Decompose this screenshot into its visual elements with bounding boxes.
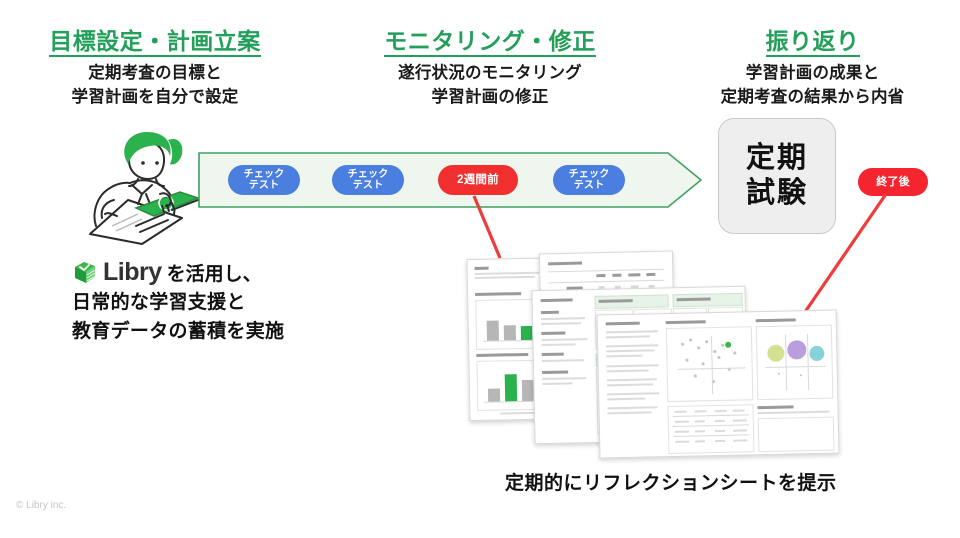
documents-caption: 定期的にリフレクションシートを提示 xyxy=(505,468,837,495)
timeline-pill-check-3[interactable]: チェック テスト xyxy=(553,165,625,195)
periodic-exam-box: 定期 試験 xyxy=(718,118,836,234)
libry-brand-name: Libry xyxy=(103,258,162,287)
column-subtitle-monitor: 遂行状況のモニタリング 学習計画の修正 xyxy=(335,62,645,110)
column-heading-reflect: 振り返り 学習計画の成果と 定期考査の結果から内省 xyxy=(665,28,960,110)
column-subtitle-reflect: 学習計画の成果と 定期考査の結果から内省 xyxy=(665,62,960,110)
timeline-pill-check-1[interactable]: チェック テスト xyxy=(228,165,300,195)
timeline-pill-label: チェック テスト xyxy=(569,169,610,191)
libry-description: 日常的な学習支援と 教育データの蓄積を実施 xyxy=(72,289,352,346)
column-title-monitor: モニタリング・修正 xyxy=(384,28,596,57)
timeline-pill-check-2[interactable]: チェック テスト xyxy=(332,165,404,195)
exam-label-line2: 試験 xyxy=(746,176,808,211)
after-exam-badge[interactable]: 終了後 xyxy=(858,168,928,196)
timeline-pill-label: チェック テスト xyxy=(244,169,285,191)
scatter-analysis-sheet[interactable] xyxy=(597,310,840,459)
libry-tail-text: を活用し、 xyxy=(167,259,262,286)
timeline-pill-label: チェック テスト xyxy=(348,169,389,191)
exam-label-line1: 定期 xyxy=(746,141,808,176)
libry-book-icon xyxy=(72,260,98,286)
libry-usage-block: Libry を活用し、 日常的な学習支援と 教育データの蓄積を実施 xyxy=(72,258,352,346)
column-title-reflect: 振り返り xyxy=(766,28,860,57)
column-subtitle-goal: 定期考査の目標と 学習計画を自分で設定 xyxy=(0,62,310,110)
timeline-pill-two-weeks-before[interactable]: 2週間前 xyxy=(438,165,518,195)
after-exam-badge-label: 終了後 xyxy=(876,176,910,188)
column-title-goal: 目標設定・計画立案 xyxy=(49,28,261,57)
timeline-pill-label: 2週間前 xyxy=(457,174,499,187)
column-heading-goal: 目標設定・計画立案 定期考査の目標と 学習計画を自分で設定 xyxy=(0,28,310,110)
copyright-footer: © Libry inc. xyxy=(16,500,66,511)
slide-canvas: 目標設定・計画立案 定期考査の目標と 学習計画を自分で設定 モニタリング・修正 … xyxy=(0,0,960,538)
column-heading-monitor: モニタリング・修正 遂行状況のモニタリング 学習計画の修正 xyxy=(335,28,645,110)
